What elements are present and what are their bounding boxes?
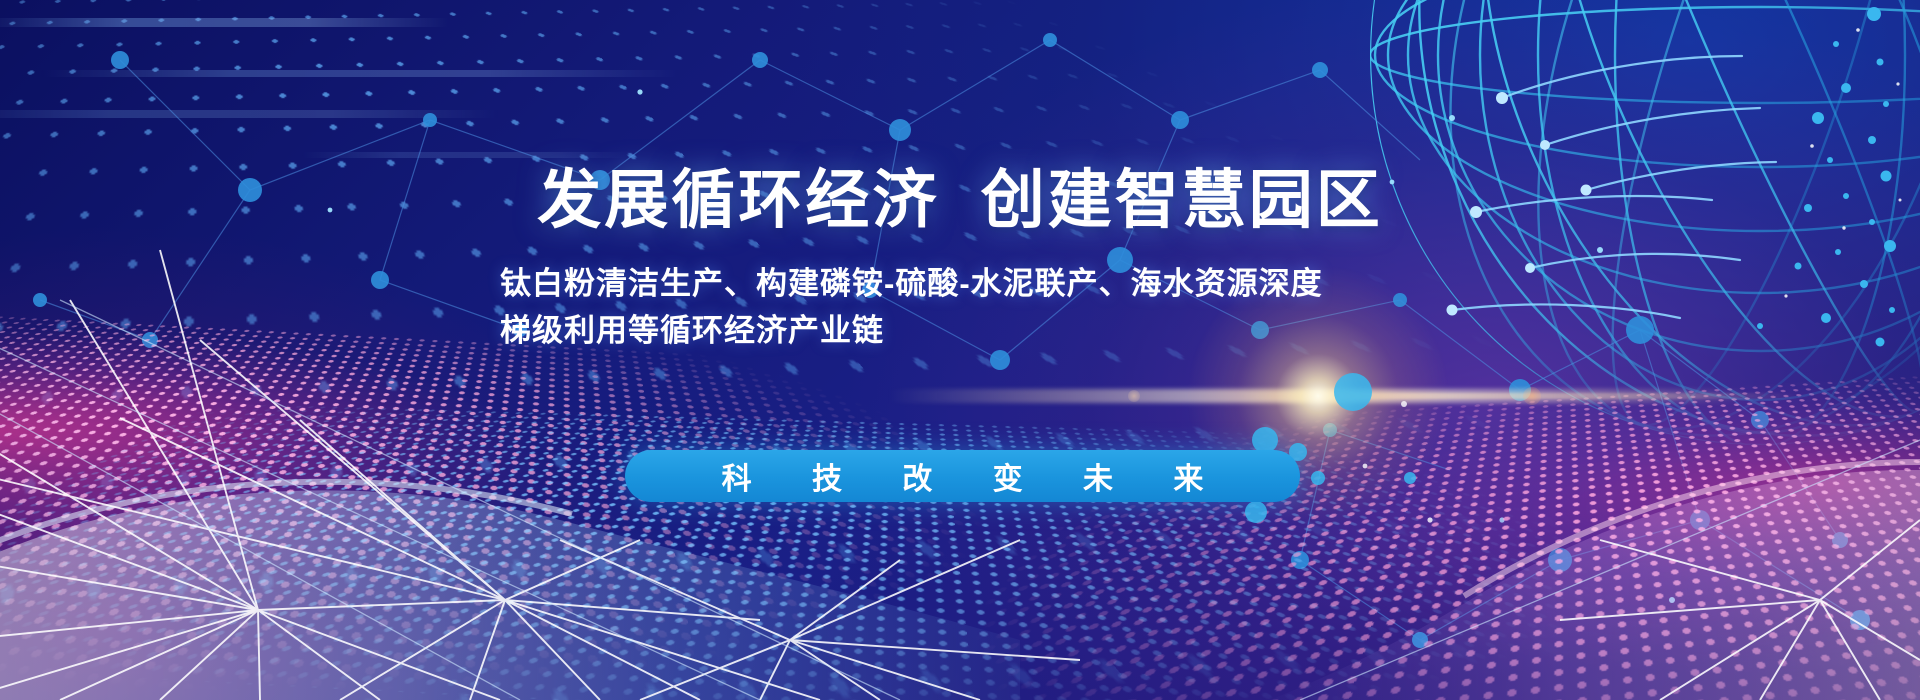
subtitle-line-1: 钛白粉清洁生产、构建磷铵-硫酸-水泥联产、海水资源深度: [500, 260, 1420, 307]
subtitle-block: 钛白粉清洁生产、构建磷铵-硫酸-水泥联产、海水资源深度 梯级利用等循环经济产业链: [500, 260, 1420, 354]
hero-banner: 发展循环经济 创建智慧园区 钛白粉清洁生产、构建磷铵-硫酸-水泥联产、海水资源深…: [0, 0, 1920, 700]
cta-button[interactable]: 科 技 改 变 未 来: [625, 450, 1300, 502]
page-title: 发展循环经济 创建智慧园区: [537, 168, 1383, 232]
banner-content: 发展循环经济 创建智慧园区 钛白粉清洁生产、构建磷铵-硫酸-水泥联产、海水资源深…: [0, 0, 1920, 700]
cta-button-label: 科 技 改 变 未 来: [696, 454, 1230, 498]
subtitle-line-2: 梯级利用等循环经济产业链: [500, 307, 1420, 354]
